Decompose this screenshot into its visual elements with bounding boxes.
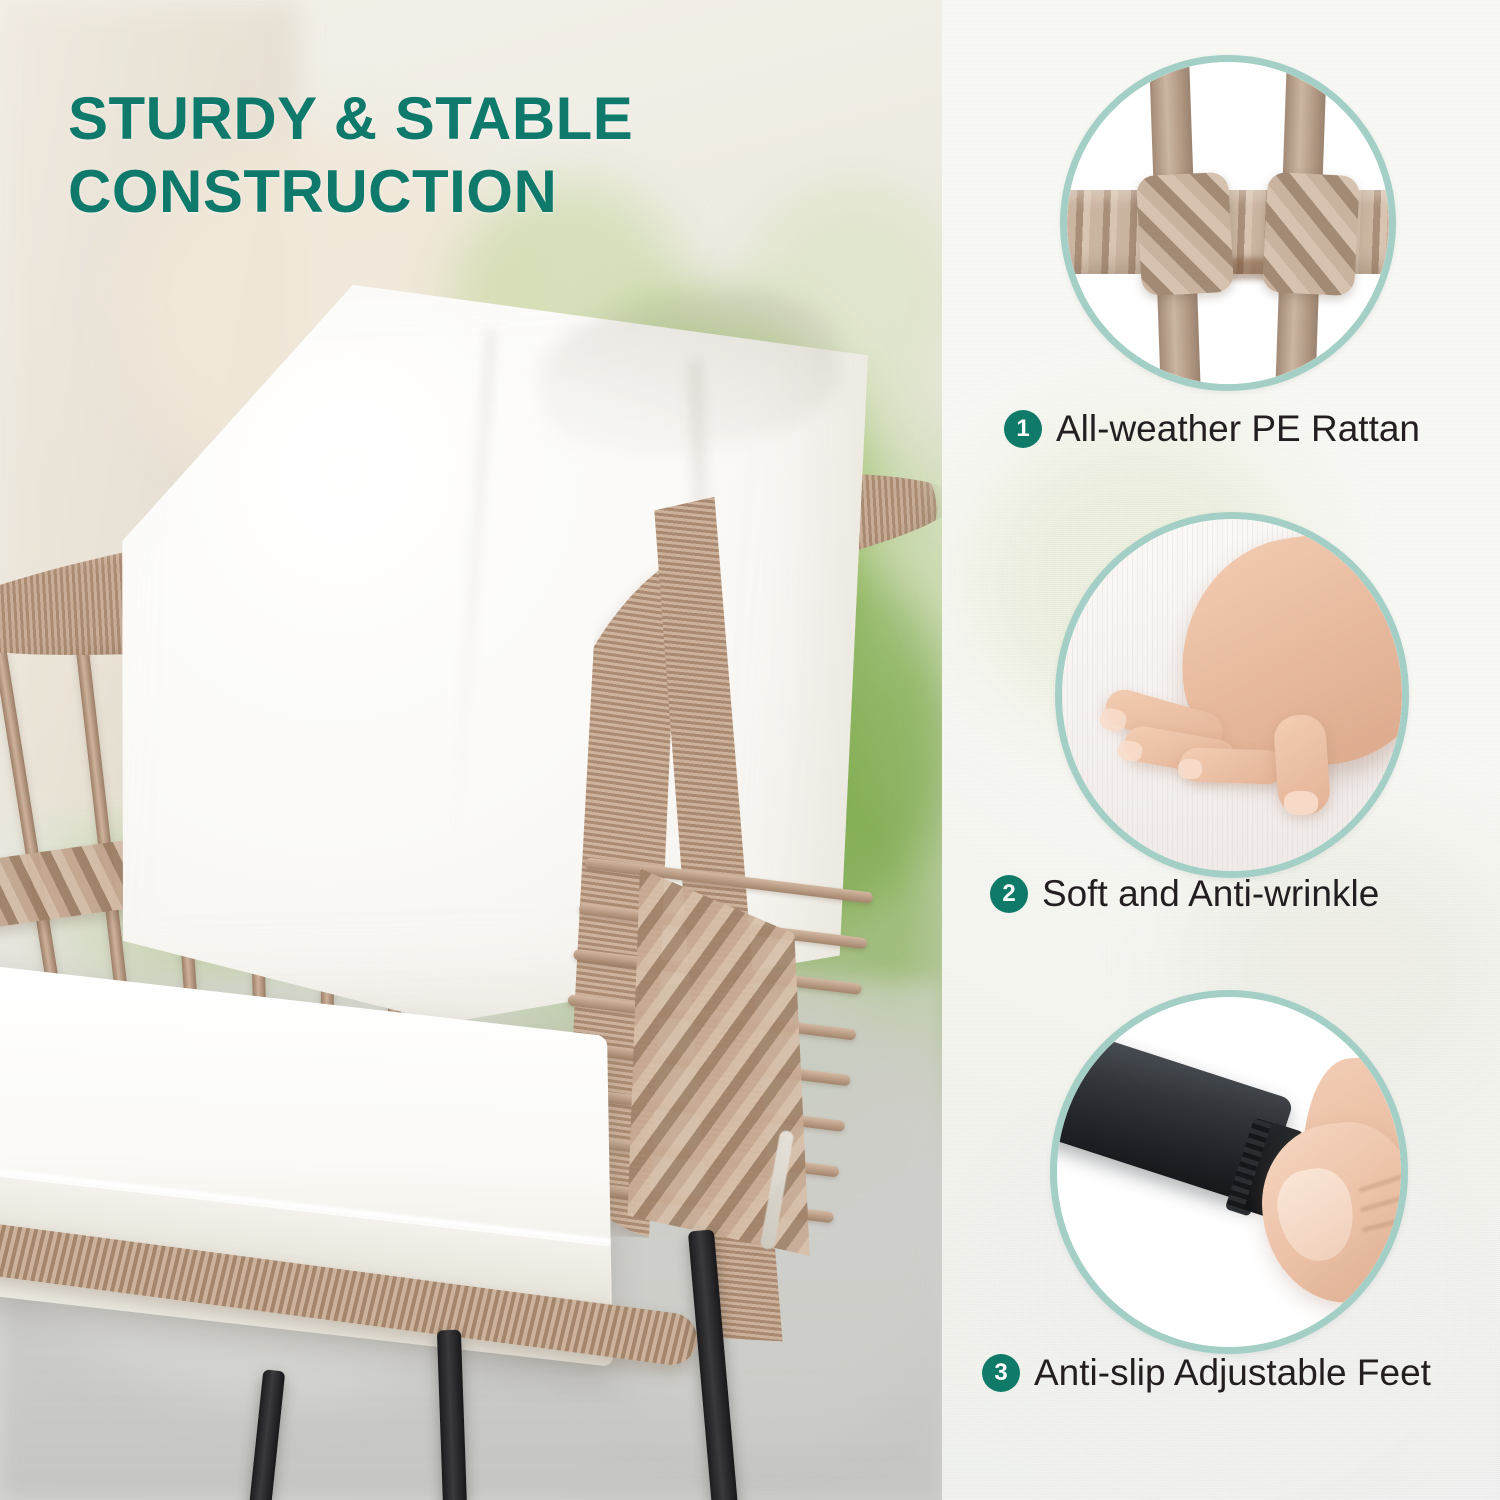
fingernail bbox=[1284, 791, 1318, 815]
feature-number-badge-1: 1 bbox=[1004, 410, 1042, 448]
page-title-line-2: CONSTRUCTION bbox=[68, 155, 848, 228]
feature-label-text-3: Anti-slip Adjustable Feet bbox=[1034, 1352, 1431, 1394]
fingernail bbox=[1178, 759, 1203, 780]
feature-image-cushion-press bbox=[1055, 512, 1409, 878]
main-product-photo: STURDY & STABLE CONSTRUCTION bbox=[0, 0, 942, 1500]
feature-image-adjustable-foot bbox=[1050, 990, 1408, 1354]
feature-image-rattan-weave bbox=[1060, 55, 1396, 391]
feature-number-badge-2: 2 bbox=[990, 875, 1028, 913]
feature-number-badge-3: 3 bbox=[982, 1354, 1020, 1392]
feature-label-1: 1 All-weather PE Rattan bbox=[1004, 408, 1420, 450]
rattan-knot bbox=[1136, 172, 1234, 297]
product-feature-infographic: STURDY & STABLE CONSTRUCTION bbox=[0, 0, 1500, 1500]
page-title: STURDY & STABLE CONSTRUCTION bbox=[68, 82, 848, 228]
feature-label-text-2: Soft and Anti-wrinkle bbox=[1042, 873, 1379, 915]
rattan-knot bbox=[1262, 172, 1360, 297]
feature-list-panel: 1 All-weather PE Rattan bbox=[942, 0, 1500, 1500]
feature-label-3: 3 Anti-slip Adjustable Feet bbox=[982, 1352, 1431, 1394]
feature-label-2: 2 Soft and Anti-wrinkle bbox=[990, 873, 1379, 915]
page-title-line-1: STURDY & STABLE bbox=[68, 82, 848, 155]
feature-label-text-1: All-weather PE Rattan bbox=[1056, 408, 1420, 450]
